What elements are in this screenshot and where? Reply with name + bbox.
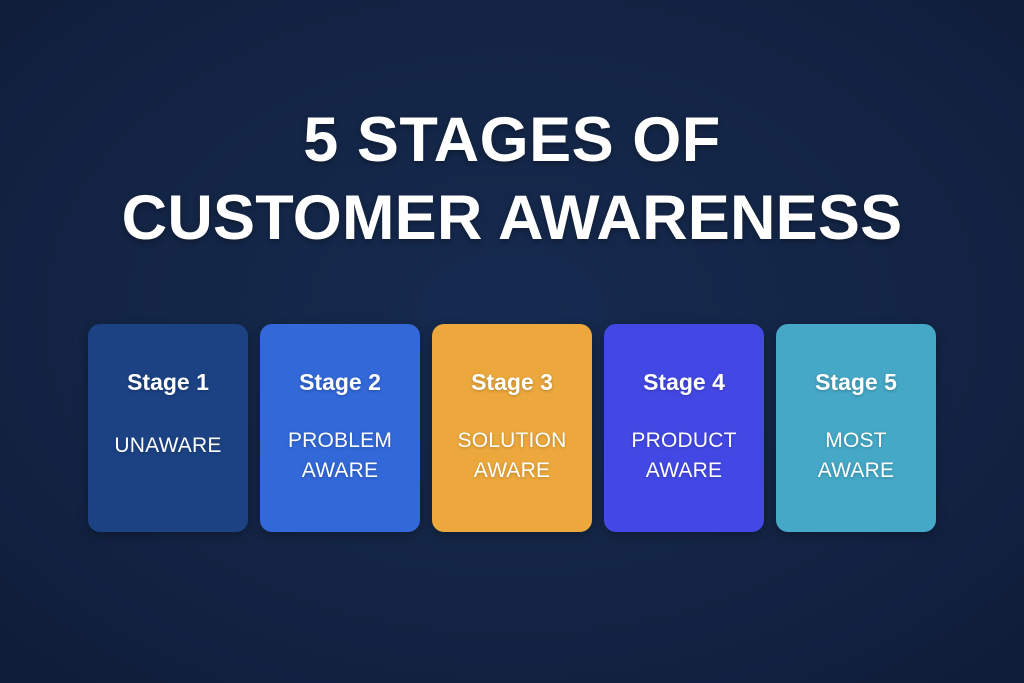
infographic-canvas: 5 STAGES OF CUSTOMER AWARENESS Stage 1 U… [0,0,1024,683]
stage-card-5-label: MOST AWARE [818,426,894,486]
stage-card-1-label-line-1: UNAWARE [114,431,221,461]
stage-card-4-number: Stage 4 [643,369,725,395]
stages-row: Stage 1 UNAWARE Stage 2 PROBLEM AWARE St… [88,324,936,532]
stage-card-4[interactable]: Stage 4 PRODUCT AWARE [604,324,764,532]
stage-card-5-label-line-2: AWARE [818,456,894,486]
stage-card-3-number: Stage 3 [471,369,553,395]
stage-card-1[interactable]: Stage 1 UNAWARE [88,324,248,532]
stage-card-1-label: UNAWARE [114,431,221,461]
stage-card-2[interactable]: Stage 2 PROBLEM AWARE [260,324,420,532]
page-title-line-2: CUSTOMER AWARENESS [0,179,1024,257]
stage-card-4-label-line-2: AWARE [631,456,736,486]
page-title: 5 STAGES OF CUSTOMER AWARENESS [0,101,1024,257]
stage-card-4-label-line-1: PRODUCT [631,426,736,456]
stage-card-2-label: PROBLEM AWARE [288,426,392,486]
stage-card-5-number: Stage 5 [815,369,897,395]
stage-card-3[interactable]: Stage 3 SOLUTION AWARE [432,324,592,532]
stage-card-3-label: SOLUTION AWARE [458,426,567,486]
stage-card-2-label-line-2: AWARE [288,456,392,486]
stage-card-2-number: Stage 2 [299,369,381,395]
stage-card-5[interactable]: Stage 5 MOST AWARE [776,324,936,532]
stage-card-3-label-line-1: SOLUTION [458,426,567,456]
stage-card-2-label-line-1: PROBLEM [288,426,392,456]
stage-card-4-label: PRODUCT AWARE [631,426,736,486]
stage-card-1-number: Stage 1 [127,369,209,395]
stage-card-3-label-line-2: AWARE [458,456,567,486]
stage-card-5-label-line-1: MOST [818,426,894,456]
page-title-line-1: 5 STAGES OF [0,101,1024,179]
